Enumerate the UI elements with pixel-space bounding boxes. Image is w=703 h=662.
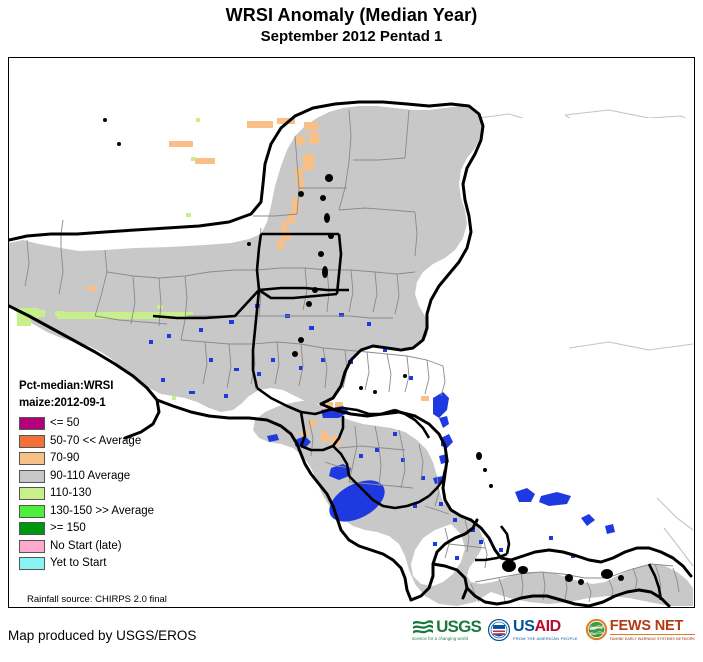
- legend-label-70-90: 70-90: [50, 452, 79, 465]
- legend-swatch-110-130: [19, 487, 45, 500]
- usaid-logo[interactable]: USAID FROM THE AMERICAN PEOPLE: [488, 619, 578, 641]
- page-subtitle: September 2012 Pentad 1: [0, 27, 703, 47]
- legend-item: 50-70 << Average: [19, 433, 219, 451]
- legend-title-line2: maize:2012-09-1: [19, 395, 219, 412]
- usgs-wordmark: USGS: [436, 618, 481, 635]
- fews-net-wordmark: FEWS NET: [610, 619, 695, 636]
- rainfall-source-note: Rainfall source: CHIRPS 2.0 final: [27, 594, 167, 605]
- usgs-tagline: science for a changing world: [412, 636, 468, 641]
- usgs-wave-icon: [412, 618, 434, 635]
- legend-swatch-70-90: [19, 452, 45, 465]
- usaid-tagline: FROM THE AMERICAN PEOPLE: [513, 636, 578, 641]
- map-frame[interactable]: Pct-median:WRSI maize:2012-09-1 <= 50 50…: [8, 57, 695, 608]
- map-credit: Map produced by USGS/EROS: [8, 628, 196, 643]
- legend-label-130-150: 130-150 >> Average: [50, 505, 154, 518]
- usaid-seal-icon: [488, 619, 510, 641]
- fews-globe-icon: [585, 618, 608, 641]
- legend-item: 110-130: [19, 485, 219, 503]
- fews-net-tagline: FAMINE EARLY WARNING SYSTEMS NETWORK: [610, 637, 695, 641]
- legend-label-90-110: 90-110 Average: [50, 470, 130, 483]
- footer: Map produced by USGS/EROS USGS science f…: [0, 608, 703, 662]
- legend-item: Yet to Start: [19, 555, 219, 573]
- legend-item: No Start (late): [19, 538, 219, 556]
- legend-label-50-70: 50-70 << Average: [50, 435, 141, 448]
- legend-item: 90-110 Average: [19, 468, 219, 486]
- legend-item: 70-90: [19, 450, 219, 468]
- legend-swatch-gte-150: [19, 522, 45, 535]
- legend-swatch-130-150: [19, 505, 45, 518]
- legend-rows: <= 50 50-70 << Average 70-90 90-110 Aver…: [19, 415, 219, 573]
- legend-swatch-lte-50: [19, 417, 45, 430]
- legend-swatch-50-70: [19, 435, 45, 448]
- legend-swatch-90-110: [19, 470, 45, 483]
- page-title: WRSI Anomaly (Median Year): [0, 4, 703, 26]
- usaid-wordmark-aid: AID: [534, 618, 560, 635]
- usaid-wordmark-us: US: [513, 618, 534, 635]
- legend-item: <= 50: [19, 415, 219, 433]
- legend-label-gte-150: >= 150: [50, 522, 86, 535]
- legend-item: >= 150: [19, 520, 219, 538]
- map-legend: Pct-median:WRSI maize:2012-09-1 <= 50 50…: [19, 378, 219, 573]
- title-block: WRSI Anomaly (Median Year) September 201…: [0, 0, 703, 47]
- legend-label-no-start: No Start (late): [50, 540, 122, 553]
- usgs-logo-top: USGS: [412, 618, 481, 635]
- legend-label-lte-50: <= 50: [50, 417, 79, 430]
- legend-label-yet-to-start: Yet to Start: [50, 557, 106, 570]
- usgs-logo[interactable]: USGS science for a changing world: [412, 618, 481, 641]
- usaid-text-block: USAID FROM THE AMERICAN PEOPLE: [513, 619, 578, 641]
- legend-item: 130-150 >> Average: [19, 503, 219, 521]
- legend-swatch-yet-to-start: [19, 557, 45, 570]
- fews-net-logo[interactable]: FEWS NET FAMINE EARLY WARNING SYSTEMS NE…: [585, 618, 695, 641]
- usaid-wordmark: USAID: [513, 619, 578, 635]
- legend-label-110-130: 110-130: [50, 487, 91, 500]
- fews-text-block: FEWS NET FAMINE EARLY WARNING SYSTEMS NE…: [610, 619, 695, 641]
- legend-swatch-no-start: [19, 540, 45, 553]
- legend-title-line1: Pct-median:WRSI: [19, 378, 219, 395]
- logo-strip: USGS science for a changing world USAID …: [412, 618, 695, 641]
